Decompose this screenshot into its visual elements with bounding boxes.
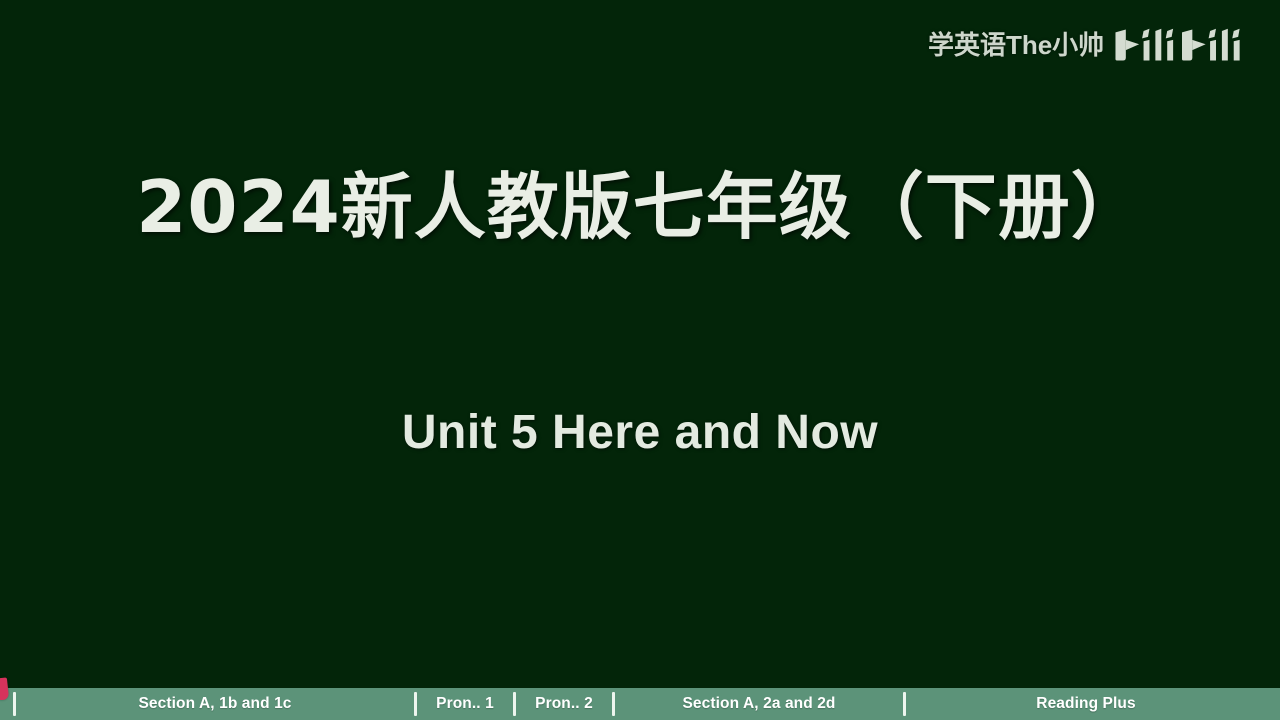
channel-watermark: 学英语The小帅 [928,28,1262,62]
section-navigation-bar[interactable]: Section A, 1b and 1c Pron.. 1 Pron.. 2 S… [0,688,1280,720]
bookmark-marker-icon [0,677,9,700]
nav-item-pron-2[interactable]: Pron.. 2 [516,688,612,720]
watermark-channel-name: 学英语The小帅 [928,32,1104,58]
nav-item-pron-1[interactable]: Pron.. 1 [417,688,513,720]
presentation-slide: 学英语The小帅 [0,0,1280,720]
slide-subtitle: Unit 5 Here and Now [0,405,1280,460]
nav-item-reading-plus[interactable]: Reading Plus [906,688,1266,720]
nav-item-section-a-2a-2d[interactable]: Section A, 2a and 2d [615,688,903,720]
bilibili-logo-icon [1114,28,1262,62]
slide-main-title: 2024新人教版七年级（下册） [0,168,1280,247]
nav-item-section-a-1b-1c[interactable]: Section A, 1b and 1c [16,688,414,720]
